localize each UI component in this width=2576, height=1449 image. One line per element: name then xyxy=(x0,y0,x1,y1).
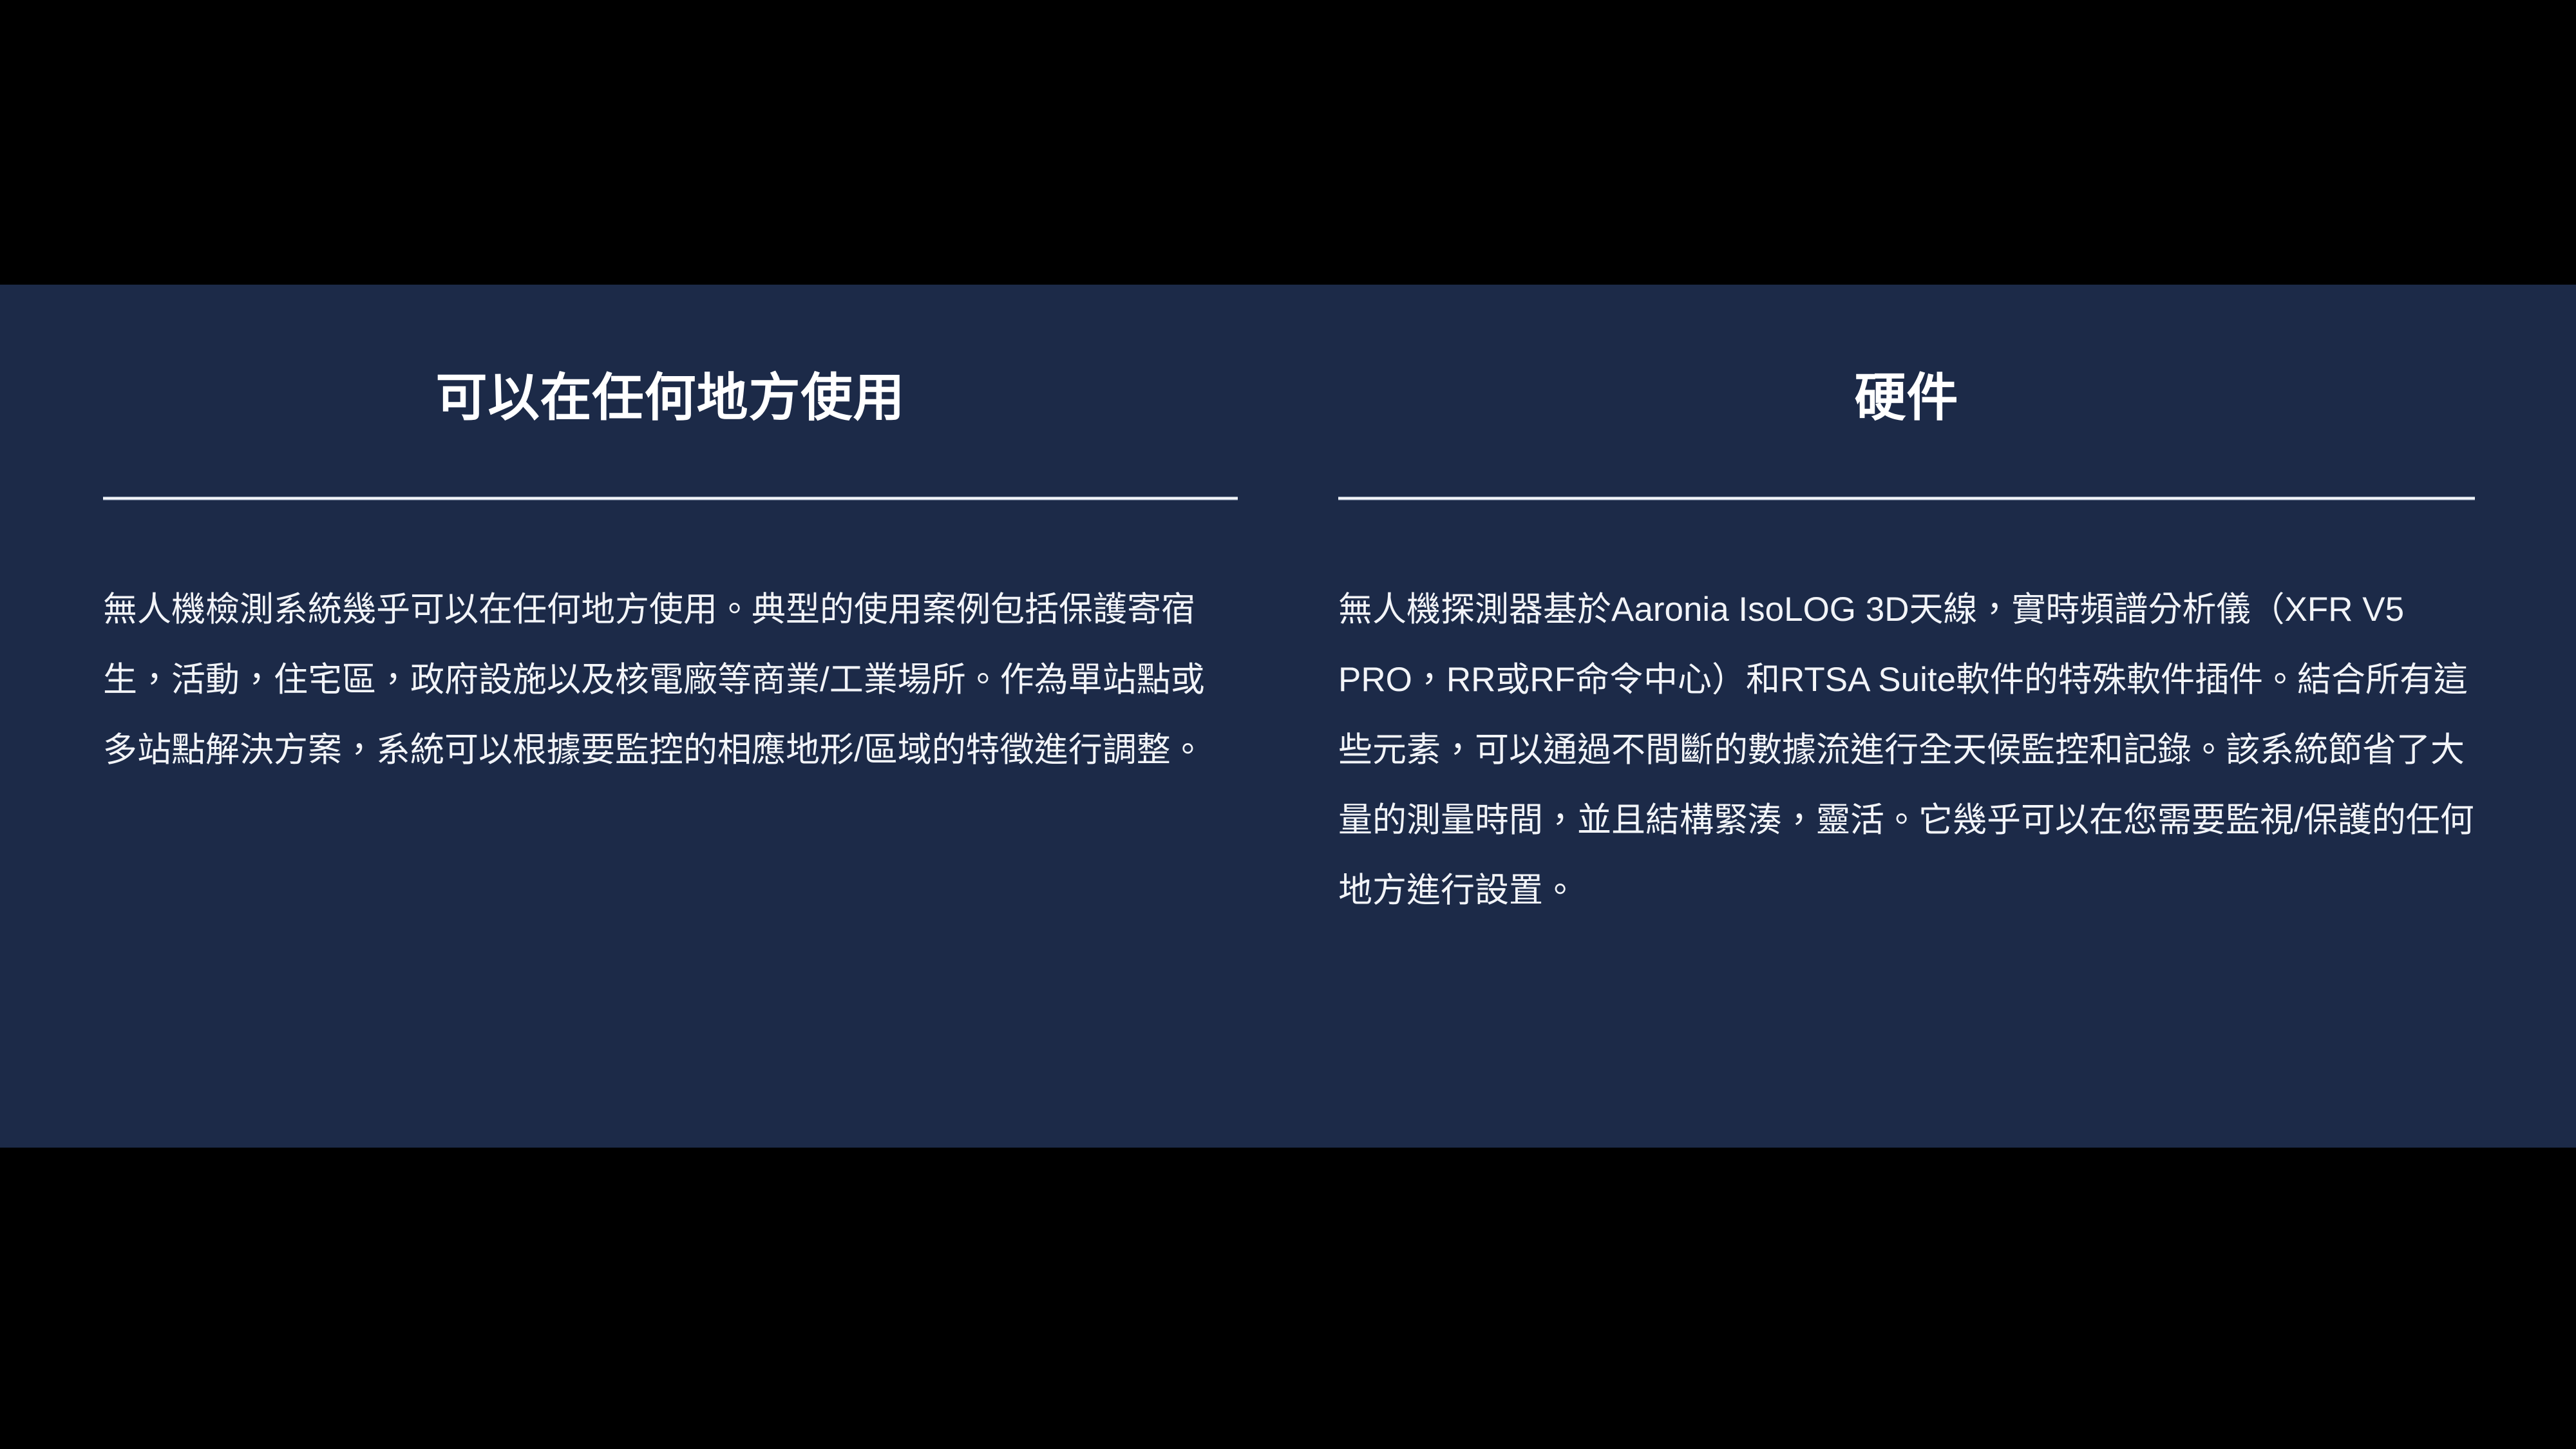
right-heading-rule-gap xyxy=(1338,430,2475,497)
content-panel: 可以在任何地方使用 無人機檢測系統幾乎可以在任何地方使用。典型的使用案例包括保護… xyxy=(0,285,2576,1148)
letterbox-top-bar xyxy=(0,0,2576,285)
slide-stage: 可以在任何地方使用 無人機檢測系統幾乎可以在任何地方使用。典型的使用案例包括保護… xyxy=(0,0,2576,1449)
right-rule-body-gap xyxy=(1338,500,2475,574)
left-heading-rule-gap xyxy=(103,430,1238,497)
left-rule-body-gap xyxy=(103,500,1238,574)
column-hardware: 硬件 無人機探測器基於Aaronia IsoLOG 3D天線，實時頻譜分析儀（X… xyxy=(1288,285,2576,1148)
column-use-anywhere: 可以在任何地方使用 無人機檢測系統幾乎可以在任何地方使用。典型的使用案例包括保護… xyxy=(0,285,1288,1148)
column-body-use-anywhere: 無人機檢測系統幾乎可以在任何地方使用。典型的使用案例包括保護寄宿生，活動，住宅區… xyxy=(103,574,1238,785)
column-heading-hardware: 硬件 xyxy=(1338,366,2475,430)
left-heading-top-spacer xyxy=(103,285,1238,366)
column-body-hardware: 無人機探測器基於Aaronia IsoLOG 3D天線，實時頻譜分析儀（XFR … xyxy=(1338,574,2475,925)
right-heading-top-spacer xyxy=(1338,285,2475,366)
letterbox-bottom-bar xyxy=(0,1148,2576,1449)
column-heading-use-anywhere: 可以在任何地方使用 xyxy=(103,366,1238,430)
two-column-layout: 可以在任何地方使用 無人機檢測系統幾乎可以在任何地方使用。典型的使用案例包括保護… xyxy=(0,285,2576,1148)
